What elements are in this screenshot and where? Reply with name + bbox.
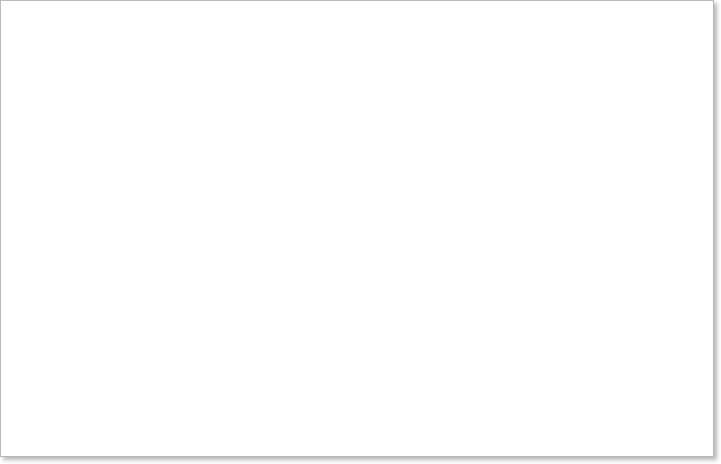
diagram-canvas: Synchronous Campus Dark Fiber CWDM Synch…: [0, 0, 714, 457]
metro-tech-line2: DWDM: [336, 309, 398, 323]
metro-caption: Synchronous or Asynchronous: [261, 180, 387, 207]
campus-tech-label: Dark Fiber CWDM: [205, 345, 291, 372]
building-sonet-sdh-node: [472, 196, 526, 254]
axis-tick-label-2: ~100s km: [345, 440, 431, 452]
axis-tick-label-0: ~100s m: [85, 440, 165, 452]
national-caption-line2: or Long-Distance Asynchronous: [311, 117, 495, 131]
sonet-sdh-node-line1: SONET/: [526, 231, 580, 245]
diagram-root: Synchronous Campus Dark Fiber CWDM Synch…: [0, 0, 721, 464]
national-caption: Limited-Distance Synchronous or Long-Dis…: [311, 103, 495, 130]
national-tag[interactable]: National: [377, 136, 442, 155]
metro-tag[interactable]: Metro: [296, 212, 347, 231]
metro-tech-line1: CWDM: [336, 295, 398, 309]
axis-title: Distance: [30, 440, 74, 452]
national-caption-line1: Limited-Distance Synchronous: [311, 103, 495, 117]
campus-tech-line1: Dark Fiber: [205, 345, 291, 359]
campus-tech-line2: CWDM: [205, 359, 291, 373]
international-caption: Limited-Distance Synchronous or Long-Dis…: [489, 22, 673, 49]
sonet-sdh-node-line2: SDH: [526, 245, 580, 259]
metro-caption-line1: Synchronous or: [261, 180, 387, 194]
metro-caption-line2: Asynchronous: [261, 194, 387, 208]
international-tech-line2: SDH: [630, 136, 684, 150]
international-caption-line1: Limited-Distance Synchronous: [489, 22, 673, 36]
sonet-sdh-node-label: SONET/ SDH: [526, 231, 580, 258]
international-tech-line1: SONET/: [630, 122, 684, 136]
campus-caption: Synchronous: [131, 261, 251, 275]
international-caption-line2: or Long-Distance Asynchronous: [489, 36, 673, 50]
campus-caption-text: Synchronous: [154, 261, 227, 273]
axis-tick-label-1: ~10s km: [209, 440, 289, 452]
axis-tick-label-3: ~1000s km: [498, 440, 588, 452]
campus-tag[interactable]: Campus: [158, 282, 223, 301]
metro-tech-label: CWDM DWDM: [336, 295, 398, 322]
international-tag[interactable]: International: [547, 60, 636, 79]
international-tech-label: SONET/ SDH: [630, 122, 684, 149]
distance-axis: [34, 406, 690, 430]
axis-tick-label-4: ~10000s km: [618, 440, 714, 452]
